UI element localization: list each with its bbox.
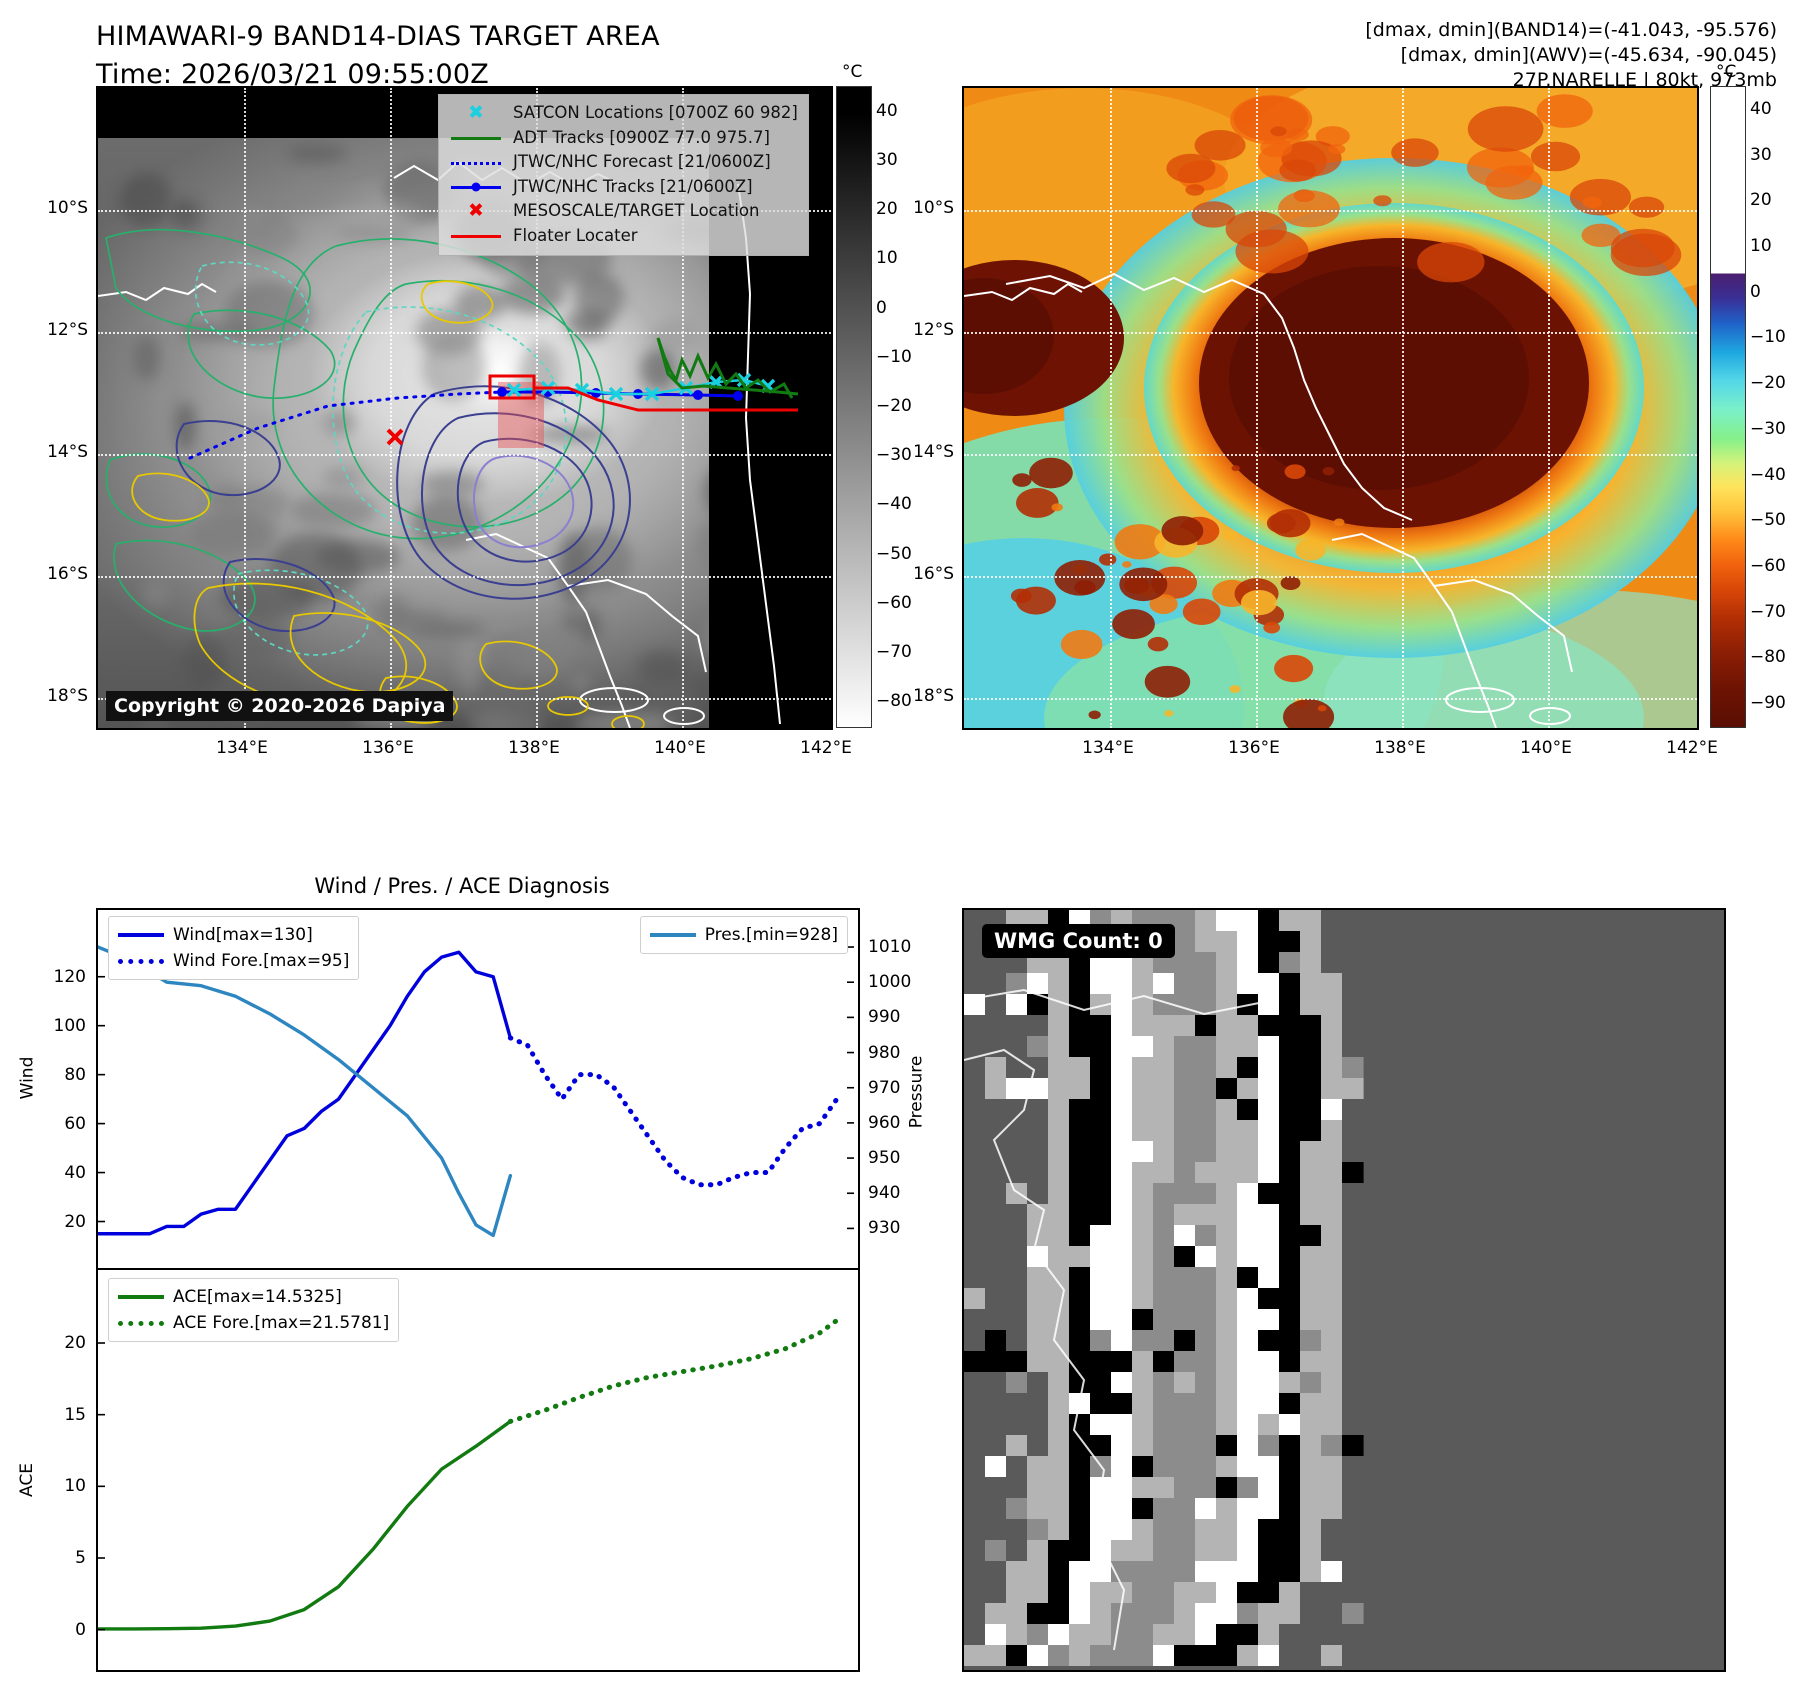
wmg-cell <box>1216 1540 1238 1562</box>
wmg-cell <box>985 1561 1007 1583</box>
legend-x-marker: ✖ <box>468 202 484 221</box>
wmg-cell <box>1174 1015 1196 1037</box>
wmg-cell <box>1174 1603 1196 1625</box>
wmg-cell <box>1195 1204 1217 1226</box>
enhanced-ir-field <box>964 88 1697 728</box>
wmg-cell <box>1048 1162 1070 1184</box>
wmg-cell <box>1258 931 1280 953</box>
wmg-cell <box>1216 1162 1238 1184</box>
wmg-cell <box>1132 973 1154 995</box>
wmg-cell <box>964 1435 986 1457</box>
wmg-cell <box>1048 1645 1070 1666</box>
wmg-cell <box>1237 1477 1259 1499</box>
wmg-cell <box>1258 1141 1280 1163</box>
wmg-cell <box>1237 1645 1259 1666</box>
wind-tick-label: 120 <box>20 967 86 987</box>
wmg-cell <box>1279 1372 1301 1394</box>
wmg-cell <box>1237 1372 1259 1394</box>
wmg-cell <box>1090 1267 1112 1289</box>
pressure-tick-label: 1010 <box>868 937 938 957</box>
wmg-cell <box>1321 1288 1343 1310</box>
wmg-cell <box>1006 1288 1028 1310</box>
legend-solid <box>650 933 696 937</box>
wmg-cell <box>1006 1351 1028 1373</box>
wmg-cell <box>1027 1015 1049 1037</box>
graticule-line <box>1402 88 1404 728</box>
wmg-cell <box>1048 1456 1070 1478</box>
wmg-cell <box>1321 1645 1343 1666</box>
wmg-cell <box>1342 1393 1364 1415</box>
legend-dotted-line <box>451 162 501 165</box>
wmg-cell <box>1216 1057 1238 1079</box>
wmg-cell <box>1321 1099 1343 1121</box>
wmg-cell <box>1153 1036 1175 1058</box>
wmg-cell <box>1216 1561 1238 1583</box>
graticule-line <box>964 454 1697 456</box>
wmg-cell <box>1237 1162 1259 1184</box>
wmg-cell <box>1279 1267 1301 1289</box>
wmg-cell <box>1027 1582 1049 1604</box>
wmg-cell <box>1258 1582 1280 1604</box>
wmg-cell <box>1111 1456 1133 1478</box>
wmg-cell <box>1300 1183 1322 1205</box>
wmg-cell <box>1216 1498 1238 1520</box>
wmg-cell <box>1258 1624 1280 1646</box>
wmg-cell <box>1258 1288 1280 1310</box>
wmg-cell <box>1111 1162 1133 1184</box>
wmg-panel[interactable]: WMG Count: 0 <box>962 908 1726 1672</box>
ace-chart-legend: ACE[max=14.5325]ACE Fore.[max=21.5781] <box>108 1278 399 1342</box>
wmg-cell <box>1174 931 1196 953</box>
wmg-cell <box>1237 1330 1259 1352</box>
wmg-cell <box>1216 994 1238 1016</box>
wmg-cell <box>1174 1246 1196 1268</box>
wmg-cell <box>1258 1414 1280 1436</box>
wmg-cell <box>1321 1624 1343 1646</box>
wmg-cell <box>1132 1309 1154 1331</box>
colorbar-tick-label: −50 <box>1750 510 1786 530</box>
wmg-cell <box>1132 1435 1154 1457</box>
wmg-cell <box>1174 1267 1196 1289</box>
wmg-cell <box>1342 1225 1364 1247</box>
wmg-cell <box>1048 1036 1070 1058</box>
wmg-cell <box>1174 952 1196 974</box>
wmg-cell <box>1111 1183 1133 1205</box>
wind-tick-label: 100 <box>20 1016 86 1036</box>
wmg-cell <box>1237 1015 1259 1037</box>
wmg-cell <box>1258 1393 1280 1415</box>
map-legend-item: JTWC/NHC Forecast [21/0600Z] <box>447 150 798 175</box>
wmg-cell <box>1342 1540 1364 1562</box>
chart-legend-item: Wind Fore.[max=95] <box>118 948 349 974</box>
wmg-cell <box>964 1582 986 1604</box>
wmg-cell <box>1237 1561 1259 1583</box>
wmg-cell <box>1300 1078 1322 1100</box>
wmg-cell <box>1090 1624 1112 1646</box>
wmg-cell <box>1216 1414 1238 1436</box>
colorbar-tick-label: −40 <box>876 494 912 514</box>
wmg-cell <box>985 1330 1007 1352</box>
latitude-label: 12°S <box>890 320 954 340</box>
map-legend-label: ADT Tracks [0900Z 77.0 975.7] <box>513 126 770 151</box>
wmg-cell <box>1321 1519 1343 1541</box>
wmg-cell <box>1237 973 1259 995</box>
latitude-label: 14°S <box>890 442 954 462</box>
wind-axis-label: Wind <box>17 1057 37 1100</box>
wmg-cell <box>1027 1498 1049 1520</box>
wmg-cell <box>1300 1372 1322 1394</box>
wmg-cell <box>1174 1540 1196 1562</box>
wmg-cell <box>1027 1330 1049 1352</box>
wmg-cell <box>985 1267 1007 1289</box>
wmg-cell <box>1195 1561 1217 1583</box>
wmg-cell <box>1006 1225 1028 1247</box>
colorbar-tick-label: −20 <box>876 396 912 416</box>
wmg-cell <box>1279 1288 1301 1310</box>
wmg-cell <box>1048 1519 1070 1541</box>
wmg-cell <box>1006 1078 1028 1100</box>
left-colorbar-unit: °C <box>842 62 862 82</box>
map-legend-label: JTWC/NHC Forecast [21/0600Z] <box>513 150 771 175</box>
colorbar-tick-label: 0 <box>876 298 887 318</box>
wmg-cell <box>1132 1288 1154 1310</box>
wind-chart-legend: Wind[max=130]Wind Fore.[max=95] <box>108 916 359 980</box>
wmg-cell <box>1090 1393 1112 1415</box>
wmg-cell <box>1174 1477 1196 1499</box>
legend-solid <box>118 933 164 937</box>
wmg-cell <box>985 1372 1007 1394</box>
wmg-cell <box>1237 1540 1259 1562</box>
wmg-cell <box>1216 1204 1238 1226</box>
wmg-cell <box>1132 1456 1154 1478</box>
wmg-cell <box>1321 1561 1343 1583</box>
wmg-cell <box>1342 931 1364 953</box>
wmg-cell <box>964 1372 986 1394</box>
map-legend-item: ADT Tracks [0900Z 77.0 975.7] <box>447 126 798 151</box>
wmg-cell <box>1111 1246 1133 1268</box>
wmg-cell <box>1195 1372 1217 1394</box>
wmg-cell <box>1279 1540 1301 1562</box>
wmg-cell <box>1048 1393 1070 1415</box>
graticule-line <box>1256 88 1258 728</box>
wmg-cell <box>964 1393 986 1415</box>
wmg-cell <box>1132 1645 1154 1666</box>
wmg-cell <box>1153 1099 1175 1121</box>
wmg-cell <box>1258 1561 1280 1583</box>
x-marker-icon: ✖ <box>447 103 505 123</box>
wmg-cell <box>1174 1309 1196 1331</box>
wmg-cell <box>1090 1204 1112 1226</box>
wmg-cell <box>1321 1603 1343 1625</box>
colorbar-tick-label: 40 <box>1750 99 1772 119</box>
wmg-cell <box>1174 1288 1196 1310</box>
wmg-cell <box>1279 1351 1301 1373</box>
legend-x-marker: ✖ <box>468 104 484 123</box>
wmg-cell <box>1132 1603 1154 1625</box>
wmg-cell <box>1111 1624 1133 1646</box>
wmg-cell <box>1153 1519 1175 1541</box>
wmg-cell <box>1132 1519 1154 1541</box>
wmg-cell <box>1153 1372 1175 1394</box>
wmg-cell <box>1342 1141 1364 1163</box>
latitude-label: 16°S <box>24 564 88 584</box>
wmg-cell <box>1279 1393 1301 1415</box>
wmg-cell <box>1237 1414 1259 1436</box>
wmg-cell <box>1237 1099 1259 1121</box>
wmg-cell <box>1342 1645 1364 1666</box>
wmg-cell <box>1195 1414 1217 1436</box>
pressure-chart-legend: Pres.[min=928] <box>640 916 848 954</box>
wmg-cell <box>1321 952 1343 974</box>
wmg-cell <box>1216 1372 1238 1394</box>
wmg-cell <box>1300 1120 1322 1142</box>
wmg-cell <box>1174 973 1196 995</box>
longitude-label: 134°E <box>216 738 268 758</box>
wmg-cell <box>1090 1561 1112 1583</box>
wmg-cell <box>1174 994 1196 1016</box>
wmg-cell <box>1048 1372 1070 1394</box>
wmg-cell <box>1195 1456 1217 1478</box>
wmg-cell <box>985 1246 1007 1268</box>
wmg-cell <box>1111 1330 1133 1352</box>
wmg-cell <box>1321 1225 1343 1247</box>
graticule-line <box>1110 88 1112 728</box>
wmg-cell <box>1174 1456 1196 1478</box>
wmg-cell <box>1090 1246 1112 1268</box>
ace-axis-label: ACE <box>17 1463 37 1497</box>
right-enhanced-ir-map[interactable] <box>962 86 1699 730</box>
wmg-cell <box>1069 1057 1091 1079</box>
wmg-cell <box>1258 1225 1280 1247</box>
page-title: HIMAWARI-9 BAND14-DIAS TARGET AREA Time:… <box>96 18 660 94</box>
wind-tick-label: 40 <box>20 1163 86 1183</box>
graticule-line <box>964 332 1697 334</box>
wmg-cell <box>1153 1120 1175 1142</box>
wmg-cell <box>1216 1309 1238 1331</box>
longitude-label: 140°E <box>1520 738 1572 758</box>
wmg-cell <box>1132 1582 1154 1604</box>
wmg-cell <box>1153 1624 1175 1646</box>
latitude-label: 10°S <box>890 198 954 218</box>
wmg-cell <box>1279 1225 1301 1247</box>
longitude-label: 136°E <box>362 738 414 758</box>
wmg-cell <box>985 1456 1007 1478</box>
colorbar-tick-label: −70 <box>1750 602 1786 622</box>
wmg-cell <box>1342 1099 1364 1121</box>
wmg-cell <box>964 1477 986 1499</box>
wmg-cell <box>1153 1435 1175 1457</box>
wmg-cell <box>1279 973 1301 995</box>
wmg-cell <box>1216 1225 1238 1247</box>
wmg-cell <box>1195 1330 1217 1352</box>
wmg-cell <box>1048 1603 1070 1625</box>
wmg-cell <box>1342 1309 1364 1331</box>
header-stats: [dmax, dmin](BAND14)=(-41.043, -95.576) … <box>1077 18 1777 93</box>
wmg-cell <box>1090 1141 1112 1163</box>
ace-chart[interactable]: ACE[max=14.5325]ACE Fore.[max=21.5781] <box>96 1268 860 1672</box>
left-satellite-map[interactable]: ✖SATCON Locations [0700Z 60 982]ADT Trac… <box>96 86 833 730</box>
wmg-cell <box>1258 1078 1280 1100</box>
wmg-cell <box>1237 1267 1259 1289</box>
chart-legend-label: Wind Fore.[max=95] <box>173 948 349 974</box>
legend-dotted <box>118 1321 164 1326</box>
wmg-cell <box>1006 1267 1028 1289</box>
wmg-cell <box>1195 1477 1217 1499</box>
map-legend-label: MESOSCALE/TARGET Location <box>513 199 759 224</box>
wmg-count-badge: WMG Count: 0 <box>982 924 1175 958</box>
wmg-cell <box>1153 1393 1175 1415</box>
wind-tick-label: 60 <box>20 1114 86 1134</box>
wmg-cell <box>1132 1498 1154 1520</box>
colorbar-tick-label: 20 <box>1750 190 1772 210</box>
wmg-cell <box>1195 1351 1217 1373</box>
wmg-cell <box>1027 1477 1049 1499</box>
wmg-cell <box>1069 1225 1091 1247</box>
wmg-cell <box>1006 1519 1028 1541</box>
wmg-cell <box>964 1414 986 1436</box>
wmg-cell <box>1342 1582 1364 1604</box>
wmg-cell <box>1006 1141 1028 1163</box>
wmg-cell <box>1153 1225 1175 1247</box>
wmg-cell <box>1279 1477 1301 1499</box>
pressure-tick-label: 960 <box>868 1113 938 1133</box>
wmg-cell <box>1174 910 1196 932</box>
wmg-cell <box>1027 1519 1049 1541</box>
wmg-cell <box>964 1015 986 1037</box>
chart-legend-label: Pres.[min=928] <box>705 922 838 948</box>
wmg-cell <box>1132 1225 1154 1247</box>
wmg-cell <box>1216 1582 1238 1604</box>
wmg-cell <box>1111 1078 1133 1100</box>
wmg-cell <box>1195 1603 1217 1625</box>
wmg-cell <box>1006 1582 1028 1604</box>
wmg-cell <box>1153 973 1175 995</box>
wmg-cell <box>1195 931 1217 953</box>
wmg-cell <box>1279 1309 1301 1331</box>
wmg-cell <box>1048 1246 1070 1268</box>
wmg-cell <box>1195 1120 1217 1142</box>
wmg-cell <box>1132 1624 1154 1646</box>
wmg-cell <box>1048 1561 1070 1583</box>
wmg-cell <box>1090 1603 1112 1625</box>
wmg-cell <box>1300 1141 1322 1163</box>
series-line <box>98 1421 510 1629</box>
wmg-cell <box>1195 1435 1217 1457</box>
wmg-cell <box>1111 1204 1133 1226</box>
wmg-cell <box>1069 1309 1091 1331</box>
wmg-cell <box>1195 1519 1217 1541</box>
wmg-cell <box>1237 1078 1259 1100</box>
wmg-cell <box>1174 1393 1196 1415</box>
wmg-cell <box>1111 1519 1133 1541</box>
map-legend-item: ✖MESOSCALE/TARGET Location <box>447 199 798 224</box>
wmg-cell <box>1237 1225 1259 1247</box>
wmg-cell <box>1279 1624 1301 1646</box>
wmg-cell <box>1258 1372 1280 1394</box>
wmg-cell <box>1090 1183 1112 1205</box>
wmg-cell <box>985 973 1007 995</box>
wmg-cell <box>1279 1414 1301 1436</box>
wmg-cell <box>1258 1036 1280 1058</box>
wmg-cell <box>1300 952 1322 974</box>
wmg-cell <box>1300 1162 1322 1184</box>
wmg-cell <box>1342 1519 1364 1541</box>
wmg-cell <box>985 1435 1007 1457</box>
wmg-cell <box>1069 973 1091 995</box>
graticule-line <box>964 576 1697 578</box>
wmg-cell <box>1048 1078 1070 1100</box>
wmg-cell <box>1321 1414 1343 1436</box>
latitude-label: 18°S <box>24 686 88 706</box>
wmg-cell <box>1300 1582 1322 1604</box>
wmg-cell <box>1153 1351 1175 1373</box>
latitude-label: 10°S <box>24 198 88 218</box>
wmg-cell <box>1258 994 1280 1016</box>
wmg-cell <box>1090 1330 1112 1352</box>
wmg-cell <box>1174 1099 1196 1121</box>
wmg-cell <box>1006 1372 1028 1394</box>
wmg-cell <box>1090 1015 1112 1037</box>
wmg-cell <box>1174 1162 1196 1184</box>
wmg-cell <box>1216 1351 1238 1373</box>
wind-pressure-chart[interactable]: Wind[max=130]Wind Fore.[max=95] Pres.[mi… <box>96 908 860 1272</box>
wmg-cell <box>1195 1057 1217 1079</box>
wmg-cell <box>1258 910 1280 932</box>
wmg-cell <box>964 1645 986 1666</box>
right-colorbar <box>1710 86 1746 728</box>
wmg-cell <box>1090 1225 1112 1247</box>
wmg-cell <box>985 1645 1007 1666</box>
wmg-cell <box>964 1456 986 1478</box>
wmg-cell <box>1006 1498 1028 1520</box>
wmg-classification-map <box>964 910 1720 1666</box>
wmg-cell <box>1300 1288 1322 1310</box>
wmg-cell <box>1111 1477 1133 1499</box>
wmg-cell <box>1132 1141 1154 1163</box>
wmg-cell <box>1090 1057 1112 1079</box>
wmg-cell <box>1321 1540 1343 1562</box>
wmg-cell <box>1300 1204 1322 1226</box>
map-legend: ✖SATCON Locations [0700Z 60 982]ADT Trac… <box>438 94 809 256</box>
wmg-cell <box>1279 1603 1301 1625</box>
wmg-cell <box>1321 931 1343 953</box>
graticule-line <box>964 698 1697 700</box>
wmg-cell <box>1279 1162 1301 1184</box>
colorbar-tick-label: −50 <box>876 544 912 564</box>
wmg-cell <box>1300 910 1322 932</box>
wmg-cell <box>1216 1645 1238 1666</box>
colorbar-tick-label: −40 <box>1750 465 1786 485</box>
wmg-cell <box>1174 1624 1196 1646</box>
wmg-cell <box>1258 1519 1280 1541</box>
wmg-cell <box>1300 1267 1322 1289</box>
wmg-cell <box>1111 1225 1133 1247</box>
wmg-cell <box>1237 952 1259 974</box>
wmg-cell <box>1258 1351 1280 1373</box>
wmg-cell <box>1048 1267 1070 1289</box>
wmg-cell <box>1153 1456 1175 1478</box>
wmg-cell <box>1006 1414 1028 1436</box>
wmg-cell <box>1300 1624 1322 1646</box>
pressure-tick-label: 970 <box>868 1078 938 1098</box>
wmg-cell <box>1111 1435 1133 1457</box>
wmg-cell <box>1258 1267 1280 1289</box>
wmg-cell <box>1279 1057 1301 1079</box>
wmg-cell <box>1216 1603 1238 1625</box>
wmg-cell <box>1321 1120 1343 1142</box>
wmg-cell <box>1216 1477 1238 1499</box>
wmg-cell <box>1174 1372 1196 1394</box>
